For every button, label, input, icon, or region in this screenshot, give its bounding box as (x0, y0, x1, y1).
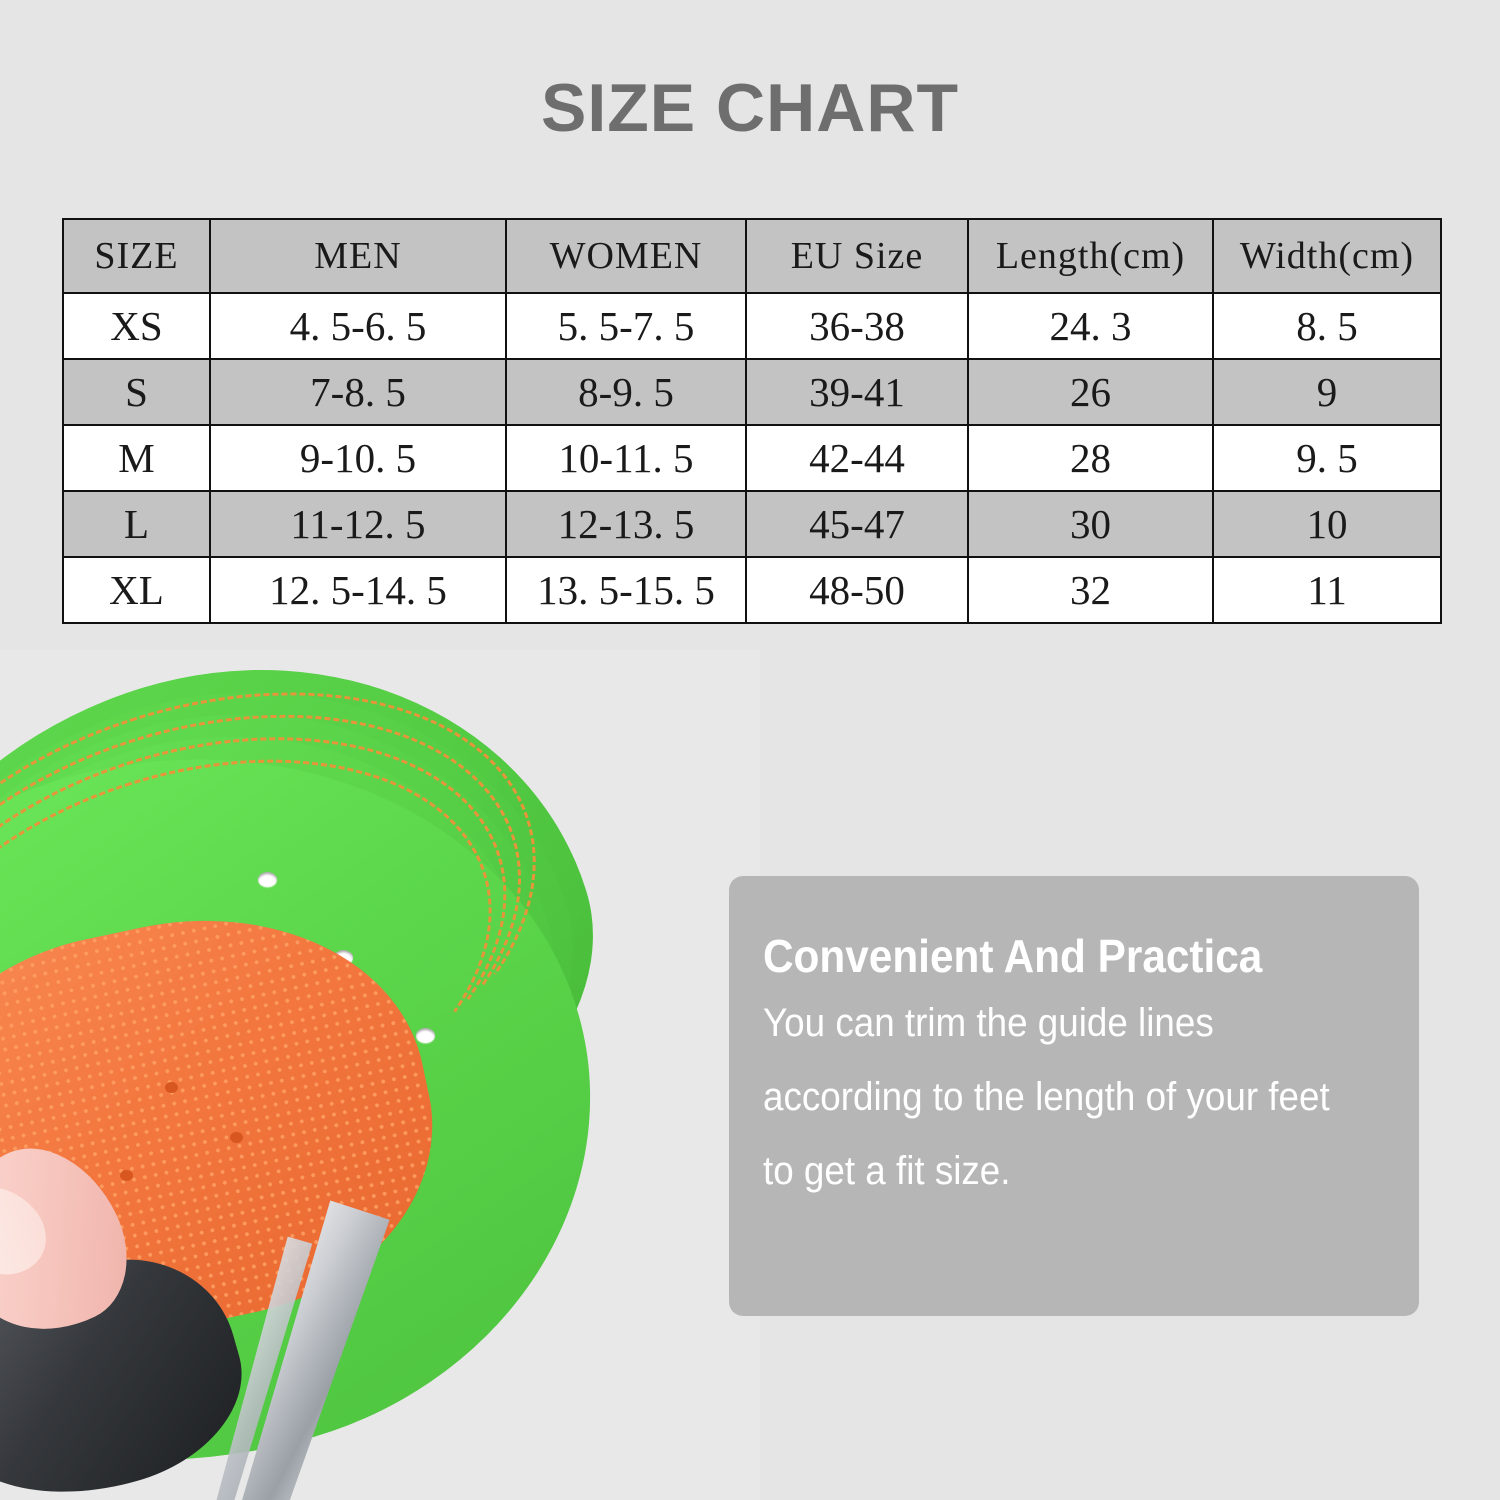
cell-men: 9-10. 5 (210, 425, 506, 491)
column-header-size: SIZE (63, 219, 210, 293)
info-panel-heading: Convenient And Practica (763, 932, 1335, 980)
info-panel: Convenient And Practica You can trim the… (729, 876, 1419, 1316)
cell-size: S (63, 359, 210, 425)
cell-width: 11 (1213, 557, 1441, 623)
ventilation-hole (416, 1028, 435, 1043)
size-chart-table: SIZE MEN WOMEN EU Size Length(cm) Width(… (62, 218, 1442, 624)
table-header-row: SIZE MEN WOMEN EU Size Length(cm) Width(… (63, 219, 1441, 293)
pad-hole (165, 1082, 178, 1093)
cell-length: 32 (968, 557, 1213, 623)
product-photo (0, 650, 760, 1500)
cell-women: 12-13. 5 (506, 491, 746, 557)
table-row: XL 12. 5-14. 5 13. 5-15. 5 48-50 32 11 (63, 557, 1441, 623)
cell-size: XL (63, 557, 210, 623)
ventilation-hole (258, 872, 277, 887)
table-row: M 9-10. 5 10-11. 5 42-44 28 9. 5 (63, 425, 1441, 491)
cell-width: 10 (1213, 491, 1441, 557)
cell-width: 8. 5 (1213, 293, 1441, 359)
cell-women: 13. 5-15. 5 (506, 557, 746, 623)
cell-eu: 48-50 (746, 557, 968, 623)
pad-hole (230, 1132, 243, 1143)
cell-eu: 39-41 (746, 359, 968, 425)
cell-width: 9 (1213, 359, 1441, 425)
cell-length: 28 (968, 425, 1213, 491)
column-header-eu: EU Size (746, 219, 968, 293)
cell-size: L (63, 491, 210, 557)
cell-eu: 45-47 (746, 491, 968, 557)
column-header-length: Length(cm) (968, 219, 1213, 293)
cell-size: XS (63, 293, 210, 359)
column-header-men: MEN (210, 219, 506, 293)
cell-size: M (63, 425, 210, 491)
size-chart-table-container: SIZE MEN WOMEN EU Size Length(cm) Width(… (62, 218, 1440, 622)
info-panel-body: You can trim the guide lines according t… (763, 986, 1335, 1208)
page-title: SIZE CHART (0, 74, 1500, 142)
thumbnail (0, 1169, 62, 1292)
table-header: SIZE MEN WOMEN EU Size Length(cm) Width(… (63, 219, 1441, 293)
cell-length: 30 (968, 491, 1213, 557)
cell-length: 24. 3 (968, 293, 1213, 359)
table-body: XS 4. 5-6. 5 5. 5-7. 5 36-38 24. 3 8. 5 … (63, 293, 1441, 623)
cell-women: 10-11. 5 (506, 425, 746, 491)
table-row: XS 4. 5-6. 5 5. 5-7. 5 36-38 24. 3 8. 5 (63, 293, 1441, 359)
cell-length: 26 (968, 359, 1213, 425)
table-row: S 7-8. 5 8-9. 5 39-41 26 9 (63, 359, 1441, 425)
column-header-women: WOMEN (506, 219, 746, 293)
cell-men: 4. 5-6. 5 (210, 293, 506, 359)
cell-women: 8-9. 5 (506, 359, 746, 425)
cell-width: 9. 5 (1213, 425, 1441, 491)
cell-eu: 36-38 (746, 293, 968, 359)
cell-women: 5. 5-7. 5 (506, 293, 746, 359)
pad-hole (120, 1170, 133, 1181)
table-row: L 11-12. 5 12-13. 5 45-47 30 10 (63, 491, 1441, 557)
column-header-width: Width(cm) (1213, 219, 1441, 293)
cell-eu: 42-44 (746, 425, 968, 491)
cell-men: 12. 5-14. 5 (210, 557, 506, 623)
cell-men: 7-8. 5 (210, 359, 506, 425)
cell-men: 11-12. 5 (210, 491, 506, 557)
